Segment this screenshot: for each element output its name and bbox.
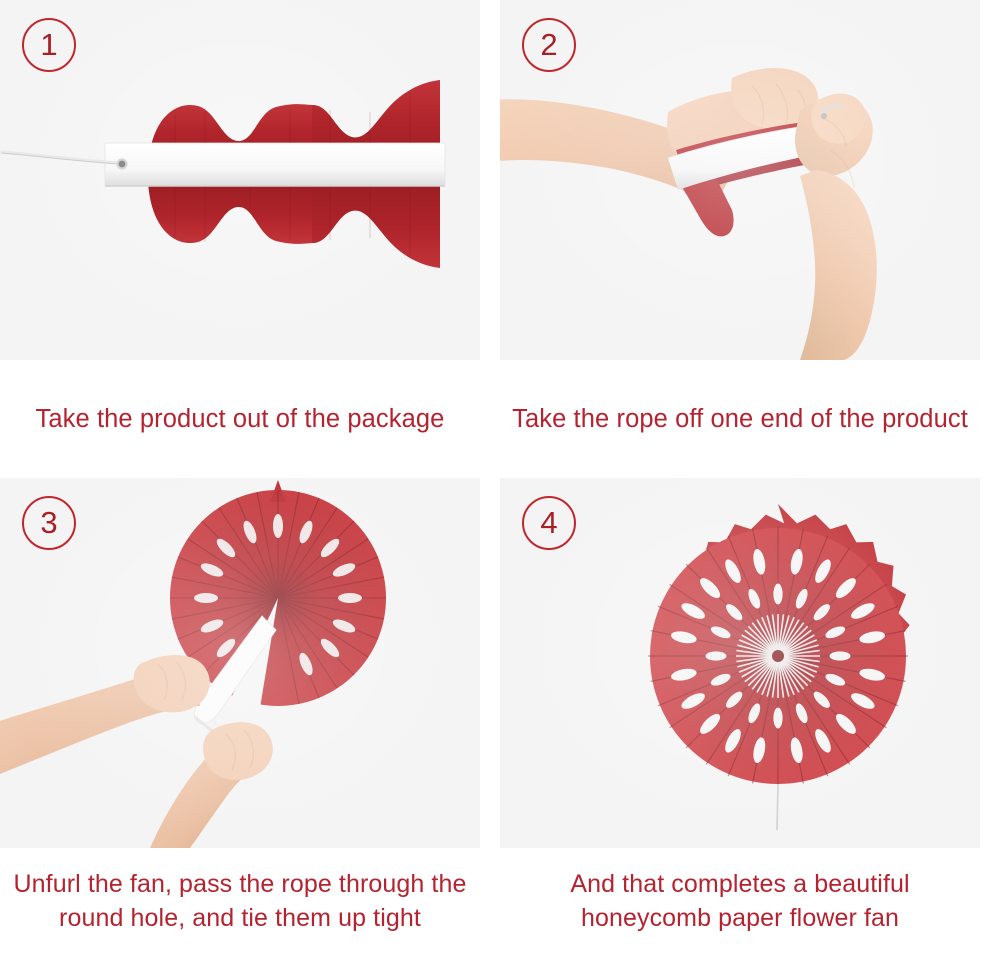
step-number-1-label: 1 [40, 29, 57, 60]
step-caption-3: Unfurl the fan, pass the rope through th… [0, 848, 480, 956]
step-caption-4: And that completes a beautiful honeycomb… [500, 848, 980, 956]
instruction-sheet: 1 [0, 0, 1000, 956]
step-caption-1: Take the product out of the package [0, 360, 480, 478]
step-photo-2: 2 [500, 0, 980, 360]
step-number-4: 4 [522, 496, 576, 550]
step-cell-3: 3 [0, 478, 480, 956]
step-cell-2: 2 [500, 0, 980, 478]
step-number-1: 1 [22, 18, 76, 72]
step-number-2-label: 2 [540, 29, 557, 60]
step-number-3: 3 [22, 496, 76, 550]
step-number-3-label: 3 [40, 507, 57, 538]
step-number-4-label: 4 [540, 507, 557, 538]
steps-grid: 1 [0, 0, 1000, 956]
step-number-2: 2 [522, 18, 576, 72]
step-photo-1: 1 [0, 0, 480, 360]
step-photo-3: 3 [0, 478, 480, 848]
step-cell-4: 4 [500, 478, 980, 956]
hanging-string [777, 784, 778, 830]
step-cell-1: 1 [0, 0, 480, 478]
completed-fan-body [648, 504, 910, 786]
step-photo-4: 4 [500, 478, 980, 848]
step-caption-2: Take the rope off one end of the product [500, 360, 980, 478]
